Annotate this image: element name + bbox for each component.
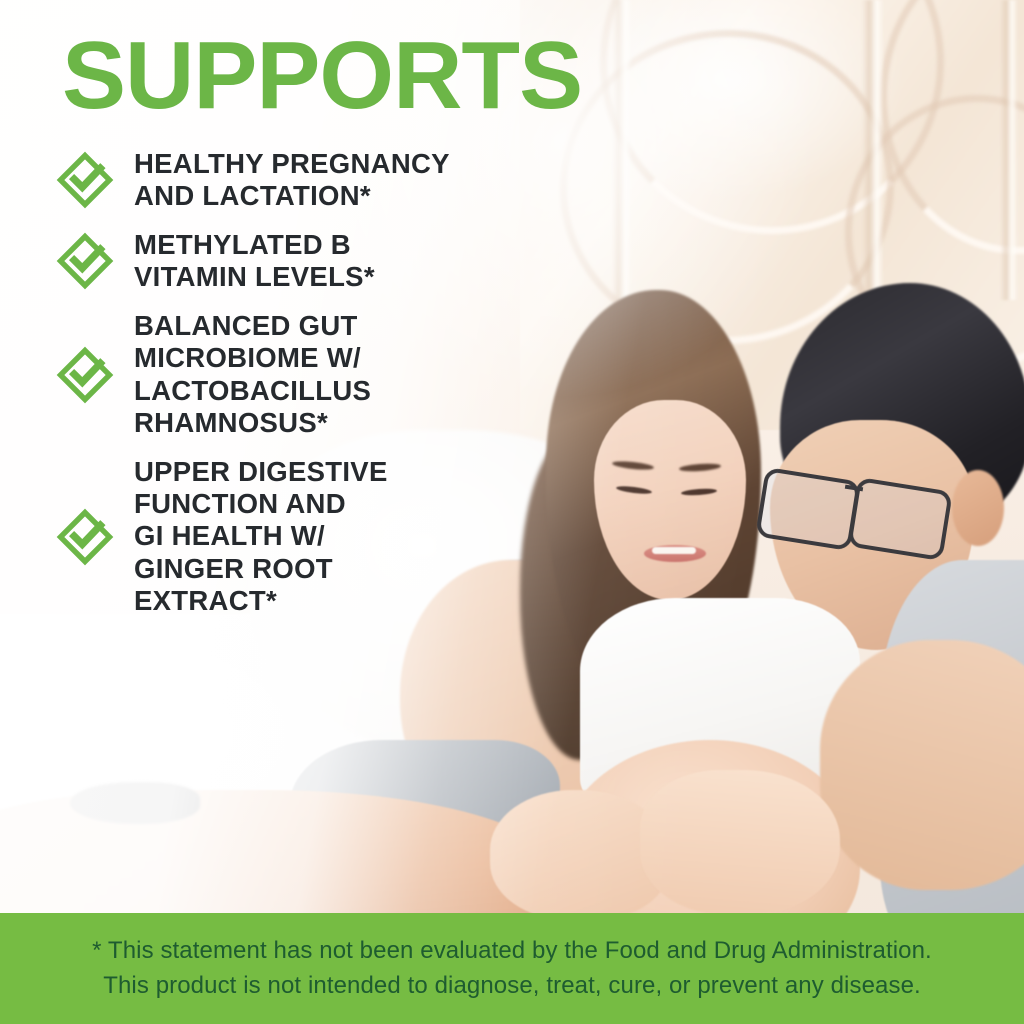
- list-item-label: METHYLATED B VITAMIN LEVELS*: [134, 229, 375, 294]
- list-item: HEALTHY PREGNANCY AND LACTATION*: [56, 148, 486, 213]
- list-item-label: BALANCED GUT MICROBIOME W/ LACTOBACILLUS…: [134, 310, 371, 440]
- list-item: UPPER DIGESTIVE FUNCTION AND GI HEALTH W…: [56, 456, 486, 618]
- disclaimer-band: * This statement has not been evaluated …: [0, 913, 1024, 1024]
- check-diamond-icon: [56, 232, 114, 290]
- benefits-list: HEALTHY PREGNANCY AND LACTATION* METHYLA…: [56, 148, 486, 634]
- disclaimer-line-1: * This statement has not been evaluated …: [92, 934, 932, 968]
- check-diamond-icon: [56, 508, 114, 566]
- list-item: BALANCED GUT MICROBIOME W/ LACTOBACILLUS…: [56, 310, 486, 440]
- check-diamond-icon: [56, 151, 114, 209]
- page-title: SUPPORTS: [62, 28, 582, 124]
- promo-poster: SUPPORTS HEALTHY PREGNANCY AND LACTATION…: [0, 0, 1024, 1024]
- list-item-label: UPPER DIGESTIVE FUNCTION AND GI HEALTH W…: [134, 456, 388, 618]
- disclaimer-line-2: This product is not intended to diagnose…: [103, 969, 921, 1003]
- check-diamond-icon: [56, 346, 114, 404]
- list-item-label: HEALTHY PREGNANCY AND LACTATION*: [134, 148, 450, 213]
- list-item: METHYLATED B VITAMIN LEVELS*: [56, 229, 486, 294]
